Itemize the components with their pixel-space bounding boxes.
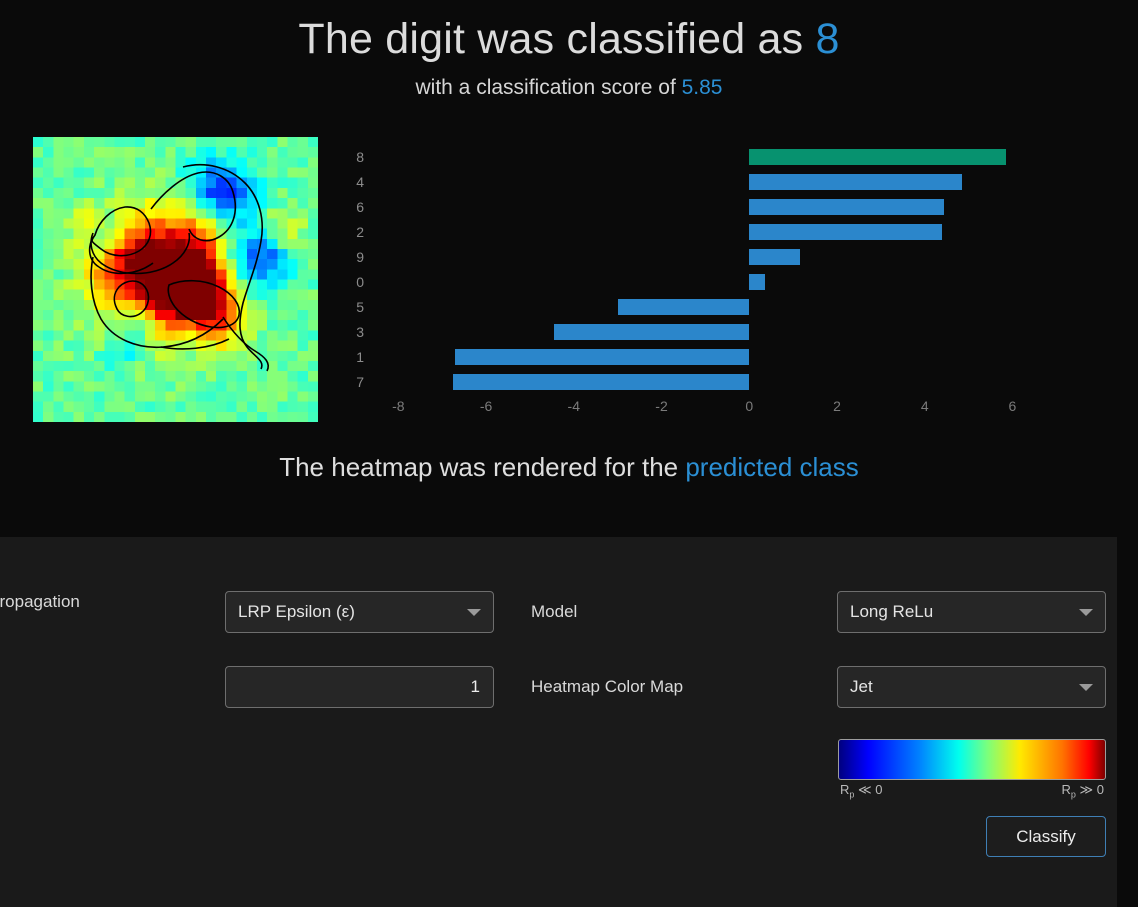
digit-contour-overlay	[33, 137, 318, 422]
chart-bar-row: 1	[372, 345, 1030, 369]
heatmap-panel	[33, 137, 318, 422]
chart-bar	[455, 349, 749, 365]
chart-y-tick-label: 7	[326, 370, 364, 394]
chevron-down-icon	[1079, 684, 1093, 691]
chart-y-tick-label: 6	[326, 195, 364, 219]
chart-x-tick-label: -2	[642, 398, 682, 414]
control-panel: e Propagation LRP Epsilon (ε) 1 Model Lo…	[0, 537, 1117, 907]
chart-y-tick-label: 9	[326, 245, 364, 269]
chart-bar-row: 8	[372, 145, 1030, 169]
chart-x-tick-label: 2	[817, 398, 857, 414]
model-select[interactable]: Long ReLu	[837, 591, 1106, 633]
chart-bar-row: 3	[372, 320, 1030, 344]
chart-x-axis: -8-6-4-20246	[372, 398, 1030, 422]
chart-bar-row: 7	[372, 370, 1030, 394]
colorbar-max-label: Rp ≫ 0	[1062, 782, 1104, 800]
classification-score-text: with a classification score of	[416, 76, 682, 99]
colorbar-legend: Rp ≪ 0 Rp ≫ 0	[838, 739, 1106, 800]
chart-bar	[749, 199, 944, 215]
predicted-digit-value: 8	[815, 15, 839, 63]
chart-bar	[749, 249, 799, 265]
chart-plot-area: 8462905317	[372, 145, 1030, 395]
chart-bar-row: 2	[372, 220, 1030, 244]
epsilon-parameter-value: 1	[471, 677, 480, 697]
chart-x-tick-label: -4	[554, 398, 594, 414]
heatmap-caption-text: The heatmap was rendered for the	[279, 452, 685, 482]
chart-y-tick-label: 4	[326, 170, 364, 194]
chart-bar	[618, 299, 750, 315]
lrp-method-select[interactable]: LRP Epsilon (ε)	[225, 591, 494, 633]
chart-bar-row: 4	[372, 170, 1030, 194]
relevance-heatmap-image	[33, 137, 318, 422]
classification-score-line: with a classification score of 5.85	[0, 76, 1138, 100]
chart-bar-row: 9	[372, 245, 1030, 269]
colorbar-min-label: Rp ≪ 0	[840, 782, 882, 800]
chart-x-tick-label: 0	[729, 398, 769, 414]
chart-y-tick-label: 2	[326, 220, 364, 244]
heatmap-caption-highlight: predicted class	[685, 452, 858, 482]
page-title-text: The digit was classified as	[298, 15, 815, 63]
chart-y-tick-label: 8	[326, 145, 364, 169]
colormap-value: Jet	[850, 677, 1071, 697]
chart-bar	[749, 149, 1006, 165]
chevron-down-icon	[467, 609, 481, 616]
chart-y-tick-label: 3	[326, 320, 364, 344]
model-label: Model	[531, 601, 577, 623]
colormap-label: Heatmap Color Map	[531, 676, 683, 698]
chart-y-tick-label: 5	[326, 295, 364, 319]
chart-bar	[749, 224, 942, 240]
colormap-select[interactable]: Jet	[837, 666, 1106, 708]
chart-bar	[749, 174, 962, 190]
chart-bar	[554, 324, 749, 340]
class-scores-chart: 8462905317 -8-6-4-20246	[330, 140, 1030, 425]
chart-bar	[749, 274, 764, 290]
heatmap-caption: The heatmap was rendered for the predict…	[0, 452, 1138, 483]
classify-button[interactable]: Classify	[986, 816, 1106, 857]
chevron-down-icon	[1079, 609, 1093, 616]
lrp-method-value: LRP Epsilon (ε)	[238, 602, 459, 622]
chart-x-tick-label: 6	[992, 398, 1032, 414]
epsilon-parameter-input[interactable]: 1	[225, 666, 494, 708]
chart-x-tick-label: 4	[905, 398, 945, 414]
chart-bar-row: 5	[372, 295, 1030, 319]
chart-x-tick-label: -6	[466, 398, 506, 414]
model-value: Long ReLu	[850, 602, 1071, 622]
chart-bar-row: 6	[372, 195, 1030, 219]
chart-y-tick-label: 1	[326, 345, 364, 369]
page-title: The digit was classified as 8	[0, 16, 1138, 63]
colorbar-gradient	[838, 739, 1106, 780]
chart-x-tick-label: -8	[378, 398, 418, 414]
chart-bar	[453, 374, 749, 390]
colorbar-labels: Rp ≪ 0 Rp ≫ 0	[838, 782, 1106, 800]
classification-score-value: 5.85	[682, 76, 723, 99]
chart-y-tick-label: 0	[326, 270, 364, 294]
chart-bar-row: 0	[372, 270, 1030, 294]
method-label: e Propagation	[0, 591, 80, 613]
app-root: The digit was classified as 8 with a cla…	[0, 0, 1138, 907]
results-section: The digit was classified as 8 with a cla…	[0, 0, 1138, 537]
